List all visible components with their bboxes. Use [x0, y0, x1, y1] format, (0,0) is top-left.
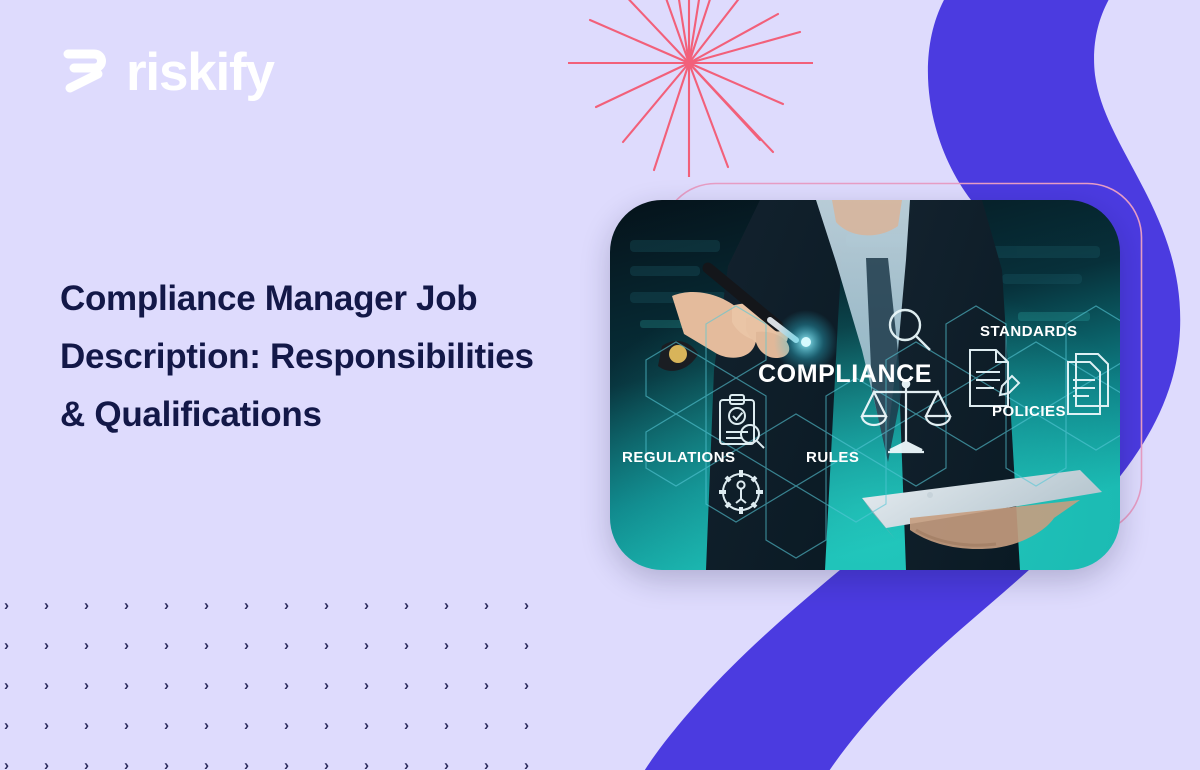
- chevron-dot-grid: ››› ››› ››› ››› ›› ››› ››› ››› ››› ›› ››…: [0, 592, 560, 770]
- svg-text:›: ›: [124, 677, 129, 694]
- svg-text:›: ›: [164, 637, 169, 654]
- svg-text:›: ›: [404, 757, 409, 770]
- riskify-logo-mark: [60, 44, 112, 100]
- svg-text:›: ›: [284, 677, 289, 694]
- svg-text:›: ›: [124, 637, 129, 654]
- svg-text:›: ›: [324, 717, 329, 734]
- page-title: Compliance Manager Job Description: Resp…: [60, 270, 565, 444]
- svg-text:›: ›: [404, 637, 409, 654]
- hero-illustration: COMPLIANCE REGULATIONS RULES STANDARDS P…: [610, 200, 1120, 570]
- svg-text:›: ›: [404, 717, 409, 734]
- hero-label-regulations: REGULATIONS: [622, 449, 736, 466]
- svg-text:›: ›: [44, 677, 49, 694]
- svg-text:›: ›: [4, 677, 9, 694]
- svg-text:›: ›: [204, 717, 209, 734]
- svg-text:›: ›: [324, 637, 329, 654]
- svg-text:›: ›: [284, 597, 289, 614]
- svg-text:›: ›: [244, 757, 249, 770]
- svg-text:›: ›: [444, 597, 449, 614]
- svg-text:›: ›: [404, 597, 409, 614]
- svg-text:›: ›: [524, 757, 529, 770]
- svg-text:›: ›: [4, 597, 9, 614]
- svg-text:›: ›: [204, 637, 209, 654]
- starburst-decoration: [568, 0, 813, 177]
- svg-text:›: ›: [4, 637, 9, 654]
- svg-text:›: ›: [324, 677, 329, 694]
- svg-text:›: ›: [364, 717, 369, 734]
- svg-text:›: ›: [44, 597, 49, 614]
- svg-text:›: ›: [364, 597, 369, 614]
- svg-text:›: ›: [364, 757, 369, 770]
- svg-text:›: ›: [364, 637, 369, 654]
- svg-text:›: ›: [4, 757, 9, 770]
- svg-text:›: ›: [204, 757, 209, 770]
- svg-text:›: ›: [44, 757, 49, 770]
- svg-text:›: ›: [524, 717, 529, 734]
- svg-text:›: ›: [444, 717, 449, 734]
- svg-text:›: ›: [4, 717, 9, 734]
- svg-text:›: ›: [164, 757, 169, 770]
- hero-label-rules: RULES: [806, 449, 859, 466]
- svg-text:›: ›: [484, 597, 489, 614]
- svg-text:›: ›: [364, 677, 369, 694]
- svg-text:›: ›: [404, 677, 409, 694]
- svg-text:›: ›: [164, 677, 169, 694]
- svg-text:›: ›: [124, 717, 129, 734]
- svg-text:›: ›: [84, 597, 89, 614]
- svg-text:›: ›: [244, 677, 249, 694]
- page-canvas: riskify Compliance Manager Job Descripti…: [0, 0, 1200, 770]
- svg-text:›: ›: [524, 637, 529, 654]
- svg-text:›: ›: [444, 757, 449, 770]
- svg-text:›: ›: [84, 637, 89, 654]
- hero-label-standards: STANDARDS: [980, 323, 1078, 340]
- svg-text:›: ›: [284, 717, 289, 734]
- svg-text:›: ›: [124, 757, 129, 770]
- hero-label-compliance: COMPLIANCE: [758, 360, 932, 388]
- svg-text:›: ›: [444, 637, 449, 654]
- svg-text:›: ›: [484, 717, 489, 734]
- svg-text:›: ›: [84, 677, 89, 694]
- hero-label-policies: POLICIES: [992, 403, 1066, 420]
- svg-text:›: ›: [284, 637, 289, 654]
- svg-text:›: ›: [44, 717, 49, 734]
- svg-text:›: ›: [284, 757, 289, 770]
- svg-text:›: ›: [524, 677, 529, 694]
- svg-text:›: ›: [244, 597, 249, 614]
- svg-text:›: ›: [484, 757, 489, 770]
- svg-text:›: ›: [484, 677, 489, 694]
- svg-text:›: ›: [164, 597, 169, 614]
- svg-text:›: ›: [524, 597, 529, 614]
- compliance-hero-image: COMPLIANCE REGULATIONS RULES STANDARDS P…: [610, 200, 1120, 570]
- svg-text:›: ›: [484, 637, 489, 654]
- svg-text:›: ›: [244, 717, 249, 734]
- svg-text:›: ›: [44, 637, 49, 654]
- svg-text:›: ›: [444, 677, 449, 694]
- svg-text:›: ›: [244, 637, 249, 654]
- svg-text:›: ›: [84, 717, 89, 734]
- svg-text:›: ›: [324, 757, 329, 770]
- svg-text:›: ›: [204, 597, 209, 614]
- svg-text:›: ›: [204, 677, 209, 694]
- svg-text:›: ›: [164, 717, 169, 734]
- brand-wordmark: riskify: [126, 46, 274, 99]
- svg-text:›: ›: [324, 597, 329, 614]
- brand-logo[interactable]: riskify: [60, 44, 274, 100]
- svg-text:›: ›: [84, 757, 89, 770]
- svg-text:›: ›: [124, 597, 129, 614]
